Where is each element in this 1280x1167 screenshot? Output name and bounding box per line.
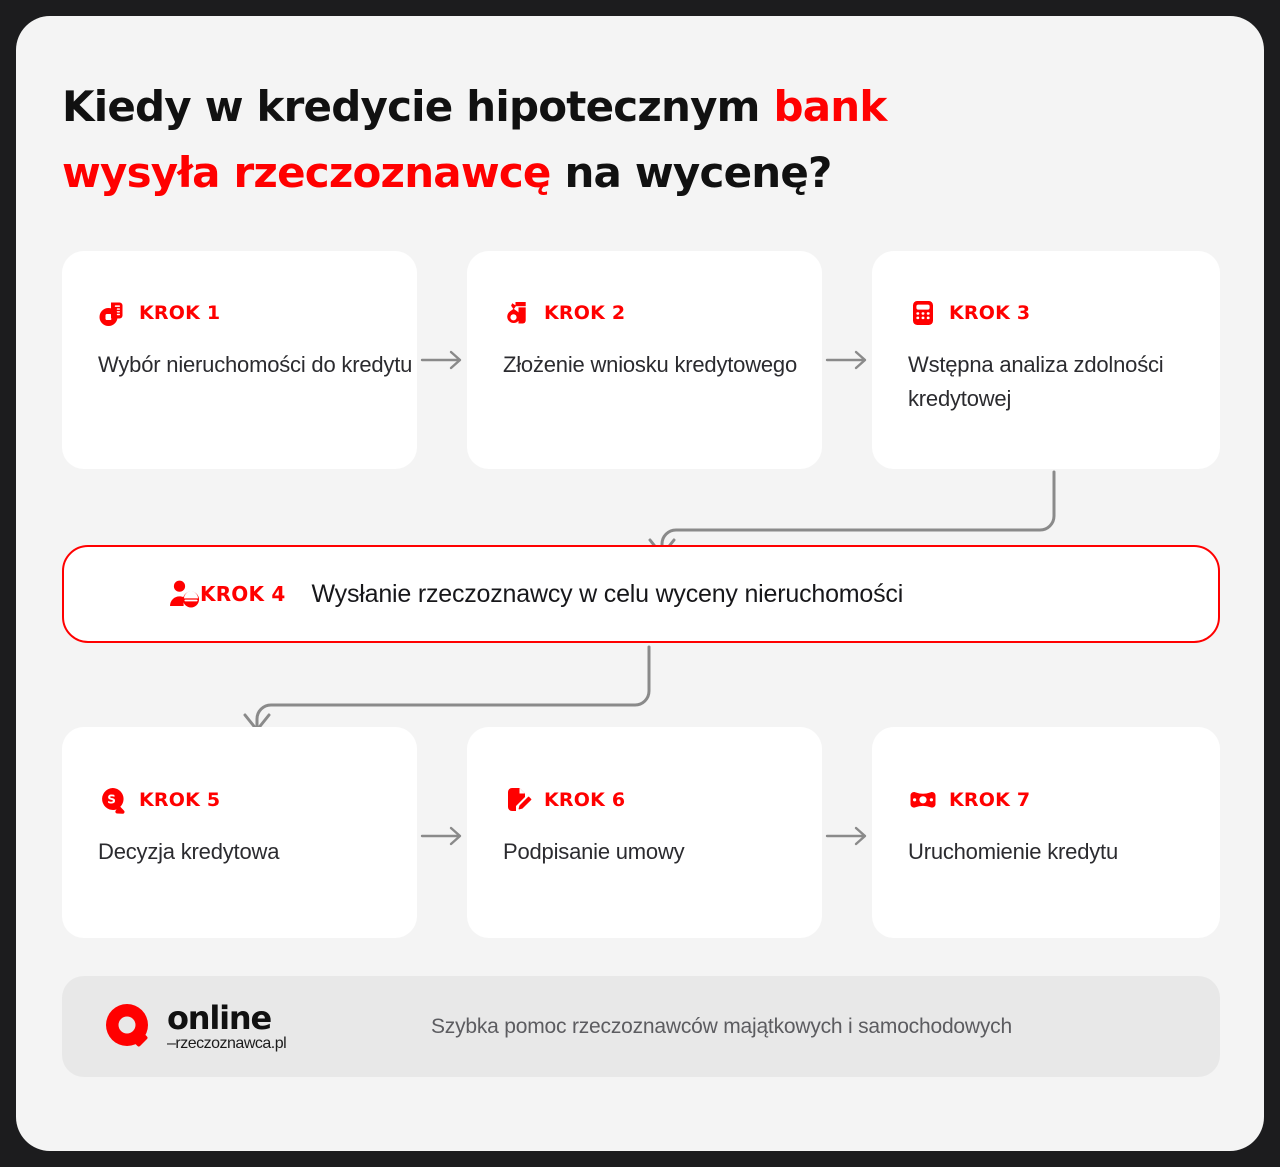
step-card-1-label: KROK 1 <box>139 302 220 324</box>
banknote-icon <box>908 785 938 815</box>
infographic-panel: Kiedy w kredycie hipotecznym bank wysyła… <box>16 16 1264 1151</box>
step-card-4-label: KROK 4 <box>200 582 285 606</box>
step-card-7-head: KROK 7 <box>908 785 1220 815</box>
page-title-line-2-accent: wysyła rzeczoznawcę <box>62 148 551 197</box>
step-card-3-text: Wstępna analiza zdolności kredytowej <box>908 348 1220 416</box>
step-card-7-label: KROK 7 <box>949 789 1030 811</box>
page-title: Kiedy w kredycie hipotecznym bank wysyła… <box>62 74 1162 206</box>
money-bag-document-icon <box>503 298 533 328</box>
calculator-icon <box>908 298 938 328</box>
step-card-6[interactable]: KROK 6 Podpisanie umowy <box>467 727 822 938</box>
page-title-line-2-plain: na wycenę? <box>551 148 832 197</box>
step-card-3-head: KROK 3 <box>908 298 1220 328</box>
step-card-7[interactable]: KROK 7 Uruchomienie kredytu <box>872 727 1220 938</box>
step-card-3-label: KROK 3 <box>949 302 1030 324</box>
step-card-5-text: Decyzja kredytowa <box>98 835 417 869</box>
step-card-1-head: KROK 1 <box>98 298 417 328</box>
appraiser-person-icon <box>168 578 200 610</box>
house-key-icon <box>98 298 128 328</box>
page-title-line-2: wysyła rzeczoznawcę na wycenę? <box>62 140 1162 206</box>
step-card-3[interactable]: KROK 3 Wstępna analiza zdolności kredyto… <box>872 251 1220 469</box>
arrow-right-icon <box>420 349 466 371</box>
page-title-line-1-accent: bank <box>773 82 886 131</box>
step-card-4-highlighted[interactable]: KROK 4 Wysłanie rzeczoznawcy w celu wyce… <box>62 545 1220 643</box>
arrow-right-icon <box>825 349 871 371</box>
brand-logo[interactable]: online –rzeczoznawca.pl <box>103 1001 383 1053</box>
footer-tagline: Szybka pomoc rzeczoznawców majątkowych i… <box>431 1015 1012 1039</box>
step-card-2-text: Złożenie wniosku kredytowego <box>503 348 822 382</box>
step-card-1[interactable]: KROK 1 Wybór nieruchomości do kredytu <box>62 251 417 469</box>
step-card-2-label: KROK 2 <box>544 302 625 324</box>
brand-logo-sub: –rzeczoznawca.pl <box>167 1036 286 1052</box>
brand-logo-words: online –rzeczoznawca.pl <box>167 1002 286 1052</box>
step-card-5-label: KROK 5 <box>139 789 220 811</box>
arrow-right-icon <box>825 825 871 847</box>
step-card-7-text: Uruchomienie kredytu <box>908 835 1220 869</box>
step-card-5-head: S KROK 5 <box>98 785 417 815</box>
step-card-6-text: Podpisanie umowy <box>503 835 822 869</box>
step-card-1-text: Wybór nieruchomości do kredytu <box>98 348 417 382</box>
document-sign-icon <box>503 785 533 815</box>
step-card-4-text: Wysłanie rzeczoznawcy w celu wyceny nier… <box>311 580 903 609</box>
brand-logo-main: online <box>167 999 271 1037</box>
page-title-line-1: Kiedy w kredycie hipotecznym bank <box>62 74 1162 140</box>
footer-bar: online –rzeczoznawca.pl Szybka pomoc rze… <box>62 976 1220 1077</box>
online-rzeczoznawca-logo-icon <box>103 1001 155 1053</box>
page-title-line-1-plain: Kiedy w kredycie hipotecznym <box>62 82 773 131</box>
step-card-2-head: KROK 2 <box>503 298 822 328</box>
step-card-5[interactable]: S KROK 5 Decyzja kredytowa <box>62 727 417 938</box>
money-tag-icon: S <box>98 785 128 815</box>
step-card-2[interactable]: KROK 2 Złożenie wniosku kredytowego <box>467 251 822 469</box>
arrow-right-icon <box>420 825 466 847</box>
svg-text:S: S <box>107 792 116 806</box>
infographic-root: Kiedy w kredycie hipotecznym bank wysyła… <box>0 0 1280 1167</box>
elbow-arrow-down-left-icon <box>211 643 671 735</box>
step-card-6-head: KROK 6 <box>503 785 822 815</box>
step-card-6-label: KROK 6 <box>544 789 625 811</box>
